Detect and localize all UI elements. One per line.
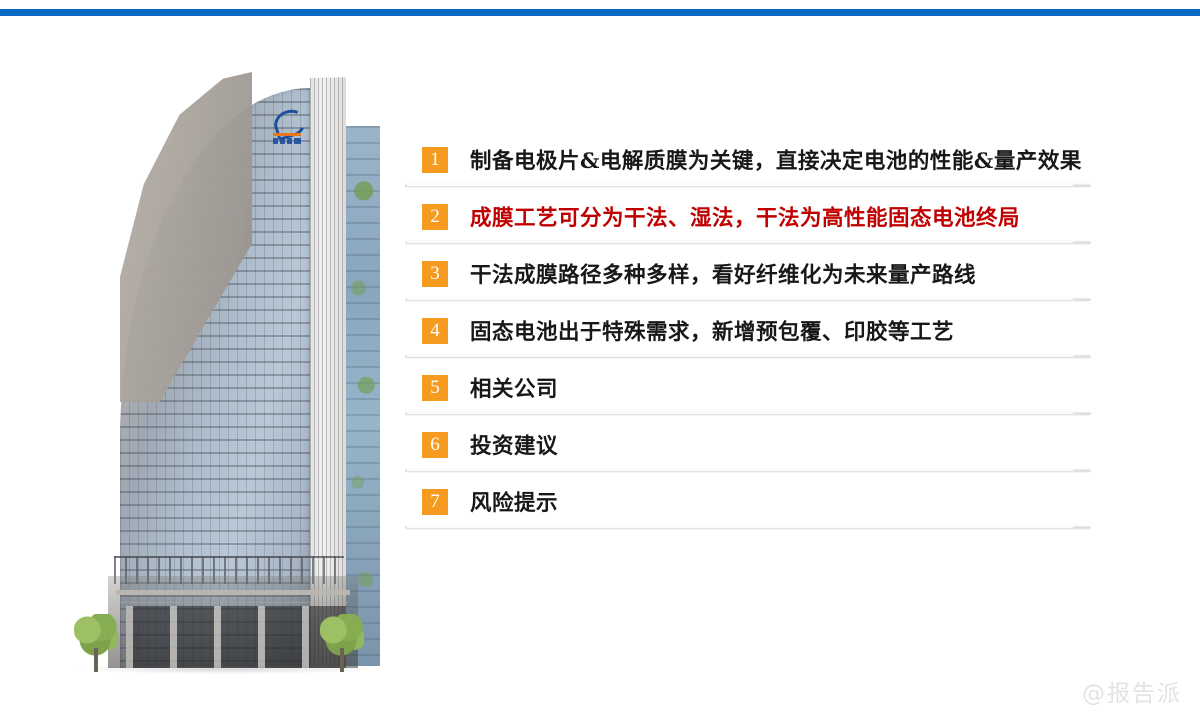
street-tree-icon	[320, 614, 364, 672]
street-tree-icon	[74, 614, 118, 672]
agenda-item-7[interactable]: 7 风险提示	[405, 473, 1091, 530]
agenda-number-badge: 3	[422, 261, 448, 287]
building-photo-canvas	[68, 66, 383, 692]
agenda-item-label: 相关公司	[470, 372, 558, 403]
agenda-item-3[interactable]: 3 干法成膜路径多种多样，看好纤维化为未来量产路线	[405, 245, 1091, 302]
agenda-item-label: 成膜工艺可分为干法、湿法，干法为高性能固态电池终局	[470, 201, 1020, 232]
agenda-list: 1 制备电极片&电解质膜为关键，直接决定电池的性能&量产效果 2 成膜工艺可分为…	[405, 131, 1091, 530]
agenda-item-label: 风险提示	[470, 486, 558, 517]
agenda-item-2[interactable]: 2 成膜工艺可分为干法、湿法，干法为高性能固态电池终局	[405, 188, 1091, 245]
building-photo	[68, 66, 383, 692]
agenda-number-badge: 5	[422, 375, 448, 401]
agenda-item-label: 投资建议	[470, 429, 558, 460]
agenda-item-6[interactable]: 6 投资建议	[405, 416, 1091, 473]
agenda-number-badge: 2	[422, 204, 448, 230]
agenda-number-badge: 6	[422, 432, 448, 458]
company-facade-logo-icon	[272, 110, 306, 144]
top-accent-bar	[0, 9, 1200, 16]
agenda-item-label: 固态电池出于特殊需求，新增预包覆、印胶等工艺	[470, 315, 954, 346]
agenda-item-4[interactable]: 4 固态电池出于特殊需求，新增预包覆、印胶等工艺	[405, 302, 1091, 359]
agenda-number-badge: 4	[422, 318, 448, 344]
logo-orange-bar-icon	[273, 133, 301, 136]
agenda-item-5[interactable]: 5 相关公司	[405, 359, 1091, 416]
agenda-divider	[405, 525, 1091, 530]
logo-wordmark-icon	[273, 138, 301, 144]
ground-shadow-icon	[78, 666, 373, 674]
agenda-item-1[interactable]: 1 制备电极片&电解质膜为关键，直接决定电池的性能&量产效果	[405, 131, 1091, 188]
agenda-number-badge: 7	[422, 489, 448, 515]
agenda-item-label: 干法成膜路径多种多样，看好纤维化为未来量产路线	[470, 258, 976, 289]
watermark: @报告派	[1082, 674, 1182, 708]
agenda-number-badge: 1	[422, 147, 448, 173]
agenda-item-label: 制备电极片&电解质膜为关键，直接决定电池的性能&量产效果	[470, 144, 1082, 175]
